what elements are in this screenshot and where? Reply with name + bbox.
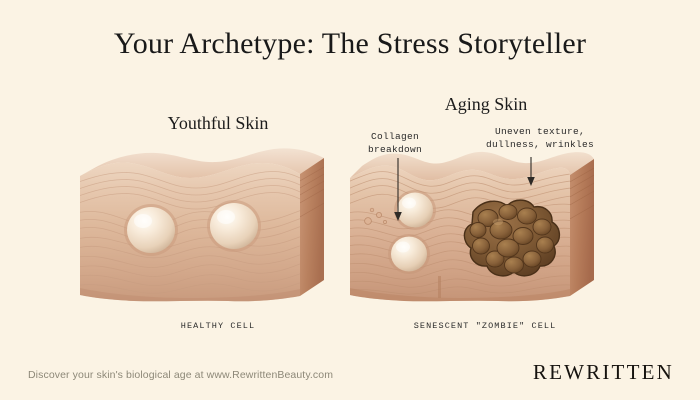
- zombie-cell-highlight: [493, 219, 503, 225]
- healthy-cell: [207, 200, 261, 252]
- dermis-front-face: [80, 163, 300, 302]
- aging-skin-illustration: [348, 148, 598, 313]
- skin-block-aging: [348, 148, 598, 313]
- annotation-uneven-texture: Uneven texture, dullness, wrinkles: [470, 125, 610, 151]
- dermal-fissure: [438, 276, 441, 298]
- healthy-cell: [388, 234, 430, 274]
- infographic-canvas: Your Archetype: The Stress Storyteller Y…: [0, 0, 700, 400]
- panel-heading-aging: Aging Skin: [396, 93, 576, 115]
- brand-logo: REWRITTEN: [533, 360, 674, 384]
- healthy-cell: [124, 204, 178, 256]
- caption-healthy-cell: HEALTHY CELL: [118, 320, 318, 332]
- collagen-breakdown-arrow: [391, 158, 405, 224]
- caption-senescent-cell: SENESCENT "ZOMBIE" CELL: [380, 320, 590, 332]
- annotation-collagen-breakdown: Collagen breakdown: [347, 130, 443, 156]
- youthful-skin-illustration: [78, 148, 328, 313]
- skin-block-youthful: [78, 148, 328, 313]
- page-title: Your Archetype: The Stress Storyteller: [0, 26, 700, 62]
- footer-note: Discover your skin's biological age at w…: [28, 368, 333, 382]
- uneven-texture-arrow: [524, 157, 538, 189]
- panel-heading-youthful: Youthful Skin: [128, 112, 308, 134]
- senescent-zombie-cell: [464, 200, 559, 276]
